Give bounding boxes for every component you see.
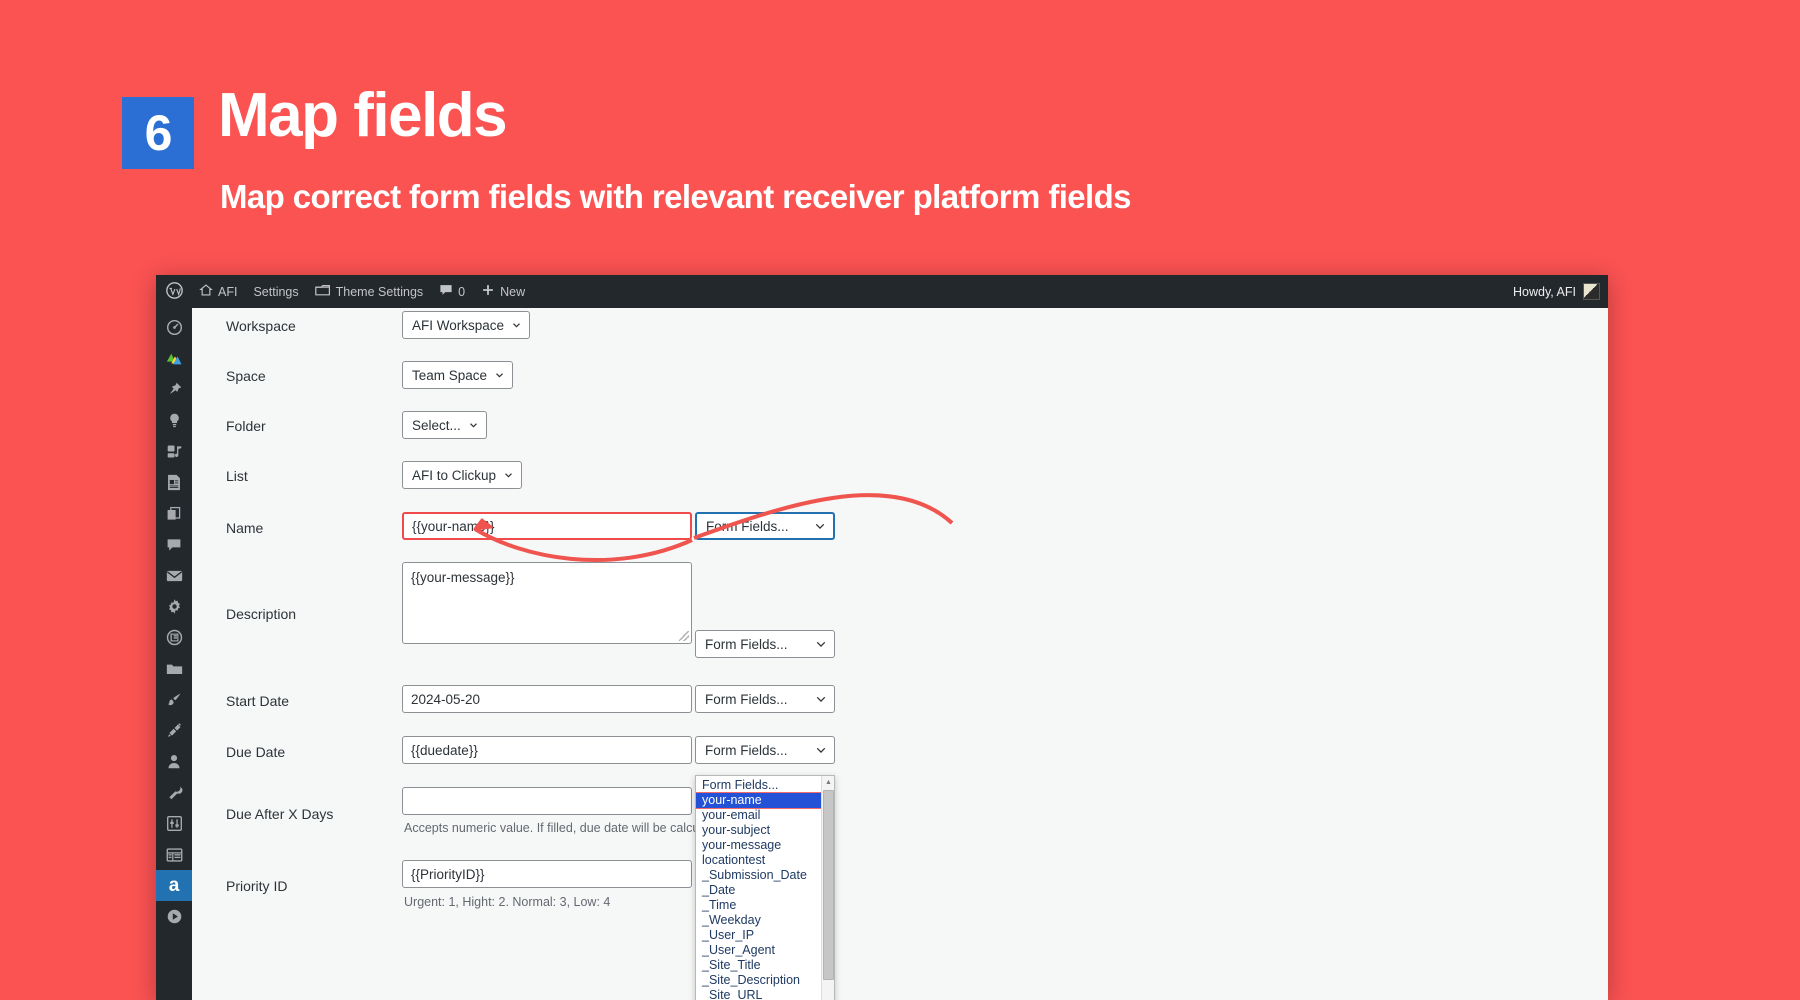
space-select[interactable]: Team Space: [402, 361, 513, 389]
sidebar-item-media[interactable]: [156, 436, 192, 467]
name-form-fields-select[interactable]: Form Fields...: [695, 512, 835, 540]
folder-icon: [315, 283, 331, 300]
chevron-down-icon: [495, 371, 504, 380]
priority-id-input[interactable]: {{PriorityID}}: [402, 860, 692, 888]
play-circle-icon: [166, 908, 183, 925]
pin-icon: [166, 381, 183, 398]
sidebar-item-settings[interactable]: [156, 591, 192, 622]
ab-howdy-label: Howdy, AFI: [1513, 285, 1576, 299]
space-select-value: Team Space: [412, 368, 487, 383]
banner: 6 Map fields Map correct form fields wit…: [0, 0, 1800, 275]
gauge-icon: [166, 319, 183, 336]
comment-icon: [166, 537, 182, 553]
sidebar-item-posts[interactable]: [156, 374, 192, 405]
label-workspace: Workspace: [226, 318, 296, 334]
name-form-fields-value: Form Fields...: [706, 519, 789, 534]
due-date-form-fields-select[interactable]: Form Fields...: [695, 736, 835, 764]
banner-subtitle: Map correct form fields with relevant re…: [220, 178, 1131, 216]
start-date-input[interactable]: 2024-05-20: [402, 685, 692, 713]
sliders-icon: [166, 815, 183, 832]
elementor-icon: [165, 351, 183, 367]
home-icon: [199, 283, 213, 300]
label-space: Space: [226, 368, 266, 384]
chevron-down-icon: [816, 639, 826, 649]
media-icon: [166, 443, 183, 460]
description-form-fields-value: Form Fields...: [705, 637, 788, 652]
dropdown-option[interactable]: locationtest: [696, 853, 823, 868]
ab-settings-label: Settings: [253, 285, 298, 299]
wp-content-area: Workspace AFI Workspace Space Team Space…: [192, 308, 1608, 1000]
ab-site-name-label: AFI: [218, 285, 237, 299]
plug-icon: [166, 722, 183, 739]
due-date-input[interactable]: {{duedate}}: [402, 736, 692, 764]
start-date-form-fields-value: Form Fields...: [705, 692, 788, 707]
ab-theme-settings[interactable]: Theme Settings: [307, 275, 432, 308]
ab-new[interactable]: New: [473, 275, 533, 308]
plus-icon: [481, 283, 495, 300]
workspace-select[interactable]: AFI Workspace: [402, 311, 530, 339]
chevron-down-icon: [816, 745, 826, 755]
sidebar-item-templates[interactable]: [156, 498, 192, 529]
due-date-form-fields-value: Form Fields...: [705, 743, 788, 758]
description-textarea[interactable]: {{your-message}}: [402, 562, 692, 644]
chevron-down-icon: [815, 521, 825, 531]
sidebar-item-pages[interactable]: [156, 467, 192, 498]
label-priority-id: Priority ID: [226, 878, 287, 894]
lightbulb-icon: [166, 412, 183, 429]
gear-icon: [166, 598, 183, 615]
list-select-value: AFI to Clickup: [412, 468, 496, 483]
sidebar-item-plugins[interactable]: [156, 715, 192, 746]
label-list: List: [226, 468, 248, 484]
sidebar-item-appearance[interactable]: [156, 684, 192, 715]
dropdown-option[interactable]: _Weekday: [696, 913, 823, 928]
step-number-badge: 6: [122, 97, 194, 169]
name-input-value: {{your-name}}: [412, 519, 495, 534]
scrollbar-thumb[interactable]: [823, 790, 834, 980]
dropdown-option[interactable]: your-subject: [696, 823, 823, 838]
dropdown-option[interactable]: _Submission_Date: [696, 868, 823, 883]
ab-comments-count: 0: [458, 285, 465, 299]
priority-id-hint: Urgent: 1, Hight: 2. Normal: 3, Low: 4: [404, 895, 610, 909]
letter-a-icon: a: [169, 876, 180, 895]
form-fields-dropdown-list[interactable]: Form Fields... your-name your-email your…: [695, 775, 835, 1000]
folder-select[interactable]: Select...: [402, 411, 487, 439]
dropdown-option[interactable]: _Site_Description: [696, 973, 823, 988]
label-folder: Folder: [226, 418, 266, 434]
sidebar-item-sliders[interactable]: [156, 808, 192, 839]
dropdown-option[interactable]: Form Fields...: [696, 778, 823, 793]
label-description: Description: [226, 606, 296, 622]
wordpress-logo-icon: [166, 282, 183, 302]
sidebar-item-afi[interactable]: a: [156, 870, 192, 901]
start-date-input-value: 2024-05-20: [411, 692, 480, 707]
priority-id-input-value: {{PriorityID}}: [411, 867, 485, 882]
list-select[interactable]: AFI to Clickup: [402, 461, 522, 489]
start-date-form-fields-select[interactable]: Form Fields...: [695, 685, 835, 713]
copy-icon: [166, 506, 182, 522]
sidebar-item-forms[interactable]: [156, 622, 192, 653]
wp-admin-sidebar: a: [156, 308, 192, 1000]
due-date-input-value: {{duedate}}: [411, 743, 478, 758]
wordpress-admin-window: AFI Settings Theme Settings 0 New Howdy,…: [156, 275, 1608, 1000]
dropdown-option[interactable]: _Site_URL: [696, 988, 823, 1000]
sidebar-item-mail[interactable]: [156, 560, 192, 591]
chevron-down-icon: [816, 694, 826, 704]
ab-settings[interactable]: Settings: [245, 275, 306, 308]
dropdown-scrollbar[interactable]: ▲ ▼: [821, 776, 834, 1000]
label-start-date: Start Date: [226, 693, 289, 709]
sidebar-item-tools[interactable]: [156, 777, 192, 808]
sidebar-item-ideas[interactable]: [156, 405, 192, 436]
dropdown-option[interactable]: _User_Agent: [696, 943, 823, 958]
avatar: [1583, 283, 1600, 300]
sidebar-item-elementor[interactable]: [156, 343, 192, 374]
workspace-select-value: AFI Workspace: [412, 318, 504, 333]
ab-theme-settings-label: Theme Settings: [336, 285, 424, 299]
dropdown-option[interactable]: _Site_Title: [696, 958, 823, 973]
banner-title: Map fields: [218, 85, 506, 147]
dropdown-option[interactable]: your-message: [696, 838, 823, 853]
wp-logo-button[interactable]: [156, 275, 191, 308]
sidebar-item-files[interactable]: [156, 653, 192, 684]
description-form-fields-select[interactable]: Form Fields...: [695, 630, 835, 658]
sidebar-item-player[interactable]: [156, 901, 192, 932]
resize-grip-icon[interactable]: [679, 631, 689, 641]
list-box-icon: [166, 629, 183, 646]
dropdown-option[interactable]: _Time: [696, 898, 823, 913]
sidebar-item-tables[interactable]: [156, 839, 192, 870]
scroll-up-arrow-icon[interactable]: ▲: [822, 776, 835, 789]
sidebar-item-dashboard[interactable]: [156, 312, 192, 343]
description-textarea-value: {{your-message}}: [411, 570, 515, 585]
sidebar-item-comments[interactable]: [156, 529, 192, 560]
chevron-down-icon: [512, 321, 521, 330]
ab-site-name[interactable]: AFI: [191, 275, 245, 308]
chevron-down-icon: [469, 421, 478, 430]
brush-icon: [166, 691, 183, 708]
ab-my-account[interactable]: Howdy, AFI: [1513, 283, 1608, 300]
chevron-down-icon: [504, 471, 513, 480]
envelope-icon: [166, 569, 183, 583]
user-icon: [166, 753, 182, 770]
wrench-icon: [166, 784, 183, 801]
folder-select-value: Select...: [412, 418, 461, 433]
label-due-after-x-days: Due After X Days: [226, 806, 333, 822]
folder-open-icon: [166, 661, 183, 676]
sidebar-item-users[interactable]: [156, 746, 192, 777]
dropdown-options[interactable]: Form Fields... your-name your-email your…: [696, 776, 823, 1000]
due-after-x-days-input[interactable]: [402, 787, 692, 815]
label-due-date: Due Date: [226, 744, 285, 760]
dropdown-option-selected[interactable]: your-name: [696, 793, 823, 808]
ab-new-label: New: [500, 285, 525, 299]
ab-comments[interactable]: 0: [431, 275, 473, 308]
table-icon: [166, 847, 183, 863]
dropdown-option[interactable]: your-email: [696, 808, 823, 823]
dropdown-option[interactable]: _User_IP: [696, 928, 823, 943]
dropdown-option[interactable]: _Date: [696, 883, 823, 898]
clickup-mapping-form: Workspace AFI Workspace Space Team Space…: [192, 308, 1608, 1000]
comment-icon: [439, 283, 453, 300]
wp-admin-bar: AFI Settings Theme Settings 0 New Howdy,…: [156, 275, 1608, 308]
page-icon: [166, 474, 182, 491]
name-input[interactable]: {{your-name}}: [402, 512, 692, 540]
label-name: Name: [226, 520, 263, 536]
